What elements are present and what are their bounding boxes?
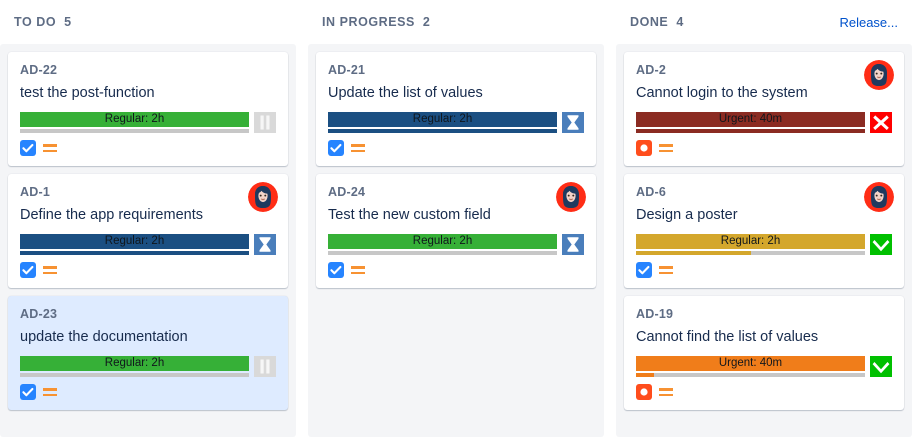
card-ad-22[interactable]: AD-22test the post-functionRegular: 2h [8, 52, 288, 166]
avatar[interactable] [556, 182, 586, 212]
progress-bar-fill: Urgent: 40m [636, 356, 865, 371]
progress-bar-track [20, 373, 249, 377]
task-icon[interactable] [20, 140, 36, 156]
column-header-inprogress: IN PROGRESS2 [308, 0, 604, 44]
card-key[interactable]: AD-23 [20, 306, 276, 322]
column-card-count: 5 [64, 15, 71, 29]
progress-bar-track-fill [20, 251, 249, 255]
card-time-tracking: Regular: 2h [20, 112, 276, 133]
card-key[interactable]: AD-6 [636, 184, 892, 200]
bug-icon[interactable] [636, 140, 652, 156]
progress-bar-track [328, 129, 557, 133]
card-summary: Test the new custom field [328, 206, 584, 225]
pause-icon[interactable] [254, 112, 276, 133]
card-summary: update the documentation [20, 328, 276, 347]
card-meta [20, 262, 276, 278]
card-ad-19[interactable]: AD-19Cannot find the list of valuesUrgen… [624, 296, 904, 410]
progress-bar: Urgent: 40m [636, 356, 865, 377]
column-header-todo: TO DO5 [0, 0, 296, 44]
progress-bar-label: Urgent: 40m [719, 356, 782, 371]
progress-bar: Regular: 2h [328, 234, 557, 255]
progress-bar-fill: Regular: 2h [636, 234, 865, 249]
card-time-tracking: Regular: 2h [636, 234, 892, 255]
progress-bar-track [636, 251, 865, 255]
progress-bar-track [20, 129, 249, 133]
release-link[interactable]: Release... [839, 15, 898, 30]
task-icon[interactable] [328, 140, 344, 156]
card-summary: Cannot find the list of values [636, 328, 892, 347]
progress-bar-label: Regular: 2h [105, 356, 164, 371]
progress-bar-track [20, 251, 249, 255]
card-ad-1[interactable]: AD-1Define the app requirementsRegular: … [8, 174, 288, 288]
column-title: IN PROGRESS [322, 15, 415, 29]
card-time-tracking: Regular: 2h [20, 234, 276, 255]
progress-bar-track [328, 251, 557, 255]
progress-bar-label: Regular: 2h [413, 112, 472, 127]
card-time-tracking: Urgent: 40m [636, 112, 892, 133]
x-cross-icon[interactable] [870, 112, 892, 133]
progress-bar-label: Regular: 2h [105, 234, 164, 249]
progress-bar: Regular: 2h [20, 234, 249, 255]
progress-bar: Regular: 2h [636, 234, 865, 255]
card-summary: Design a poster [636, 206, 892, 225]
progress-bar-track-fill [328, 129, 557, 133]
hourglass-icon[interactable] [562, 112, 584, 133]
card-key[interactable]: AD-21 [328, 62, 584, 78]
medium-priority-icon[interactable] [43, 141, 57, 155]
task-icon[interactable] [20, 262, 36, 278]
card-ad-6[interactable]: AD-6Design a posterRegular: 2h [624, 174, 904, 288]
progress-bar-track-fill [636, 373, 654, 377]
bug-icon[interactable] [636, 384, 652, 400]
card-key[interactable]: AD-22 [20, 62, 276, 78]
check-down-icon[interactable] [870, 356, 892, 377]
medium-priority-icon[interactable] [43, 263, 57, 277]
card-key[interactable]: AD-24 [328, 184, 584, 200]
column-done: DONE4Release...AD-2Cannot login to the s… [616, 0, 912, 437]
column-body-inprogress: AD-21Update the list of valuesRegular: 2… [308, 44, 604, 437]
progress-bar: Regular: 2h [328, 112, 557, 133]
avatar[interactable] [864, 60, 894, 90]
column-card-count: 2 [423, 15, 430, 29]
task-icon[interactable] [328, 262, 344, 278]
column-card-count: 4 [676, 15, 683, 29]
avatar[interactable] [864, 182, 894, 212]
card-meta [636, 384, 892, 400]
progress-bar-track [636, 129, 865, 133]
card-meta [328, 262, 584, 278]
card-ad-24[interactable]: AD-24Test the new custom fieldRegular: 2… [316, 174, 596, 288]
hourglass-icon[interactable] [562, 234, 584, 255]
card-ad-23[interactable]: AD-23update the documentationRegular: 2h [8, 296, 288, 410]
progress-bar: Urgent: 40m [636, 112, 865, 133]
progress-bar: Regular: 2h [20, 112, 249, 133]
card-meta [636, 140, 892, 156]
pause-icon[interactable] [254, 356, 276, 377]
progress-bar-track [636, 373, 865, 377]
column-todo: TO DO5AD-22test the post-functionRegular… [0, 0, 296, 437]
card-summary: Define the app requirements [20, 206, 276, 225]
hourglass-icon[interactable] [254, 234, 276, 255]
progress-bar-fill: Regular: 2h [20, 234, 249, 249]
card-summary: test the post-function [20, 84, 276, 103]
column-header-done: DONE4Release... [616, 0, 912, 44]
task-icon[interactable] [636, 262, 652, 278]
medium-priority-icon[interactable] [659, 141, 673, 155]
kanban-board: TO DO5AD-22test the post-functionRegular… [0, 0, 912, 437]
progress-bar-fill: Regular: 2h [20, 356, 249, 371]
avatar[interactable] [248, 182, 278, 212]
progress-bar-fill: Regular: 2h [20, 112, 249, 127]
card-key[interactable]: AD-1 [20, 184, 276, 200]
card-ad-21[interactable]: AD-21Update the list of valuesRegular: 2… [316, 52, 596, 166]
check-down-icon[interactable] [870, 234, 892, 255]
medium-priority-icon[interactable] [659, 263, 673, 277]
card-meta [20, 384, 276, 400]
progress-bar-fill: Urgent: 40m [636, 112, 865, 127]
medium-priority-icon[interactable] [43, 385, 57, 399]
card-meta [328, 140, 584, 156]
column-title: TO DO [14, 15, 56, 29]
card-key[interactable]: AD-2 [636, 62, 892, 78]
medium-priority-icon[interactable] [351, 141, 365, 155]
task-icon[interactable] [20, 384, 36, 400]
card-meta [636, 262, 892, 278]
progress-bar-label: Regular: 2h [721, 234, 780, 249]
medium-priority-icon[interactable] [351, 263, 365, 277]
card-ad-2[interactable]: AD-2Cannot login to the systemUrgent: 40… [624, 52, 904, 166]
progress-bar-label: Regular: 2h [413, 234, 472, 249]
column-title: DONE [630, 15, 668, 29]
card-summary: Cannot login to the system [636, 84, 892, 103]
progress-bar-track-fill [636, 129, 865, 133]
progress-bar-track-fill [636, 251, 751, 255]
card-time-tracking: Regular: 2h [328, 234, 584, 255]
progress-bar-label: Regular: 2h [105, 112, 164, 127]
progress-bar: Regular: 2h [20, 356, 249, 377]
card-summary: Update the list of values [328, 84, 584, 103]
progress-bar-fill: Regular: 2h [328, 112, 557, 127]
progress-bar-fill: Regular: 2h [328, 234, 557, 249]
card-meta [20, 140, 276, 156]
card-key[interactable]: AD-19 [636, 306, 892, 322]
column-body-done: AD-2Cannot login to the systemUrgent: 40… [616, 44, 912, 437]
column-body-todo: AD-22test the post-functionRegular: 2hAD… [0, 44, 296, 437]
medium-priority-icon[interactable] [659, 385, 673, 399]
column-inprogress: IN PROGRESS2AD-21Update the list of valu… [308, 0, 604, 437]
card-time-tracking: Urgent: 40m [636, 356, 892, 377]
card-time-tracking: Regular: 2h [20, 356, 276, 377]
card-time-tracking: Regular: 2h [328, 112, 584, 133]
progress-bar-label: Urgent: 40m [719, 112, 782, 127]
